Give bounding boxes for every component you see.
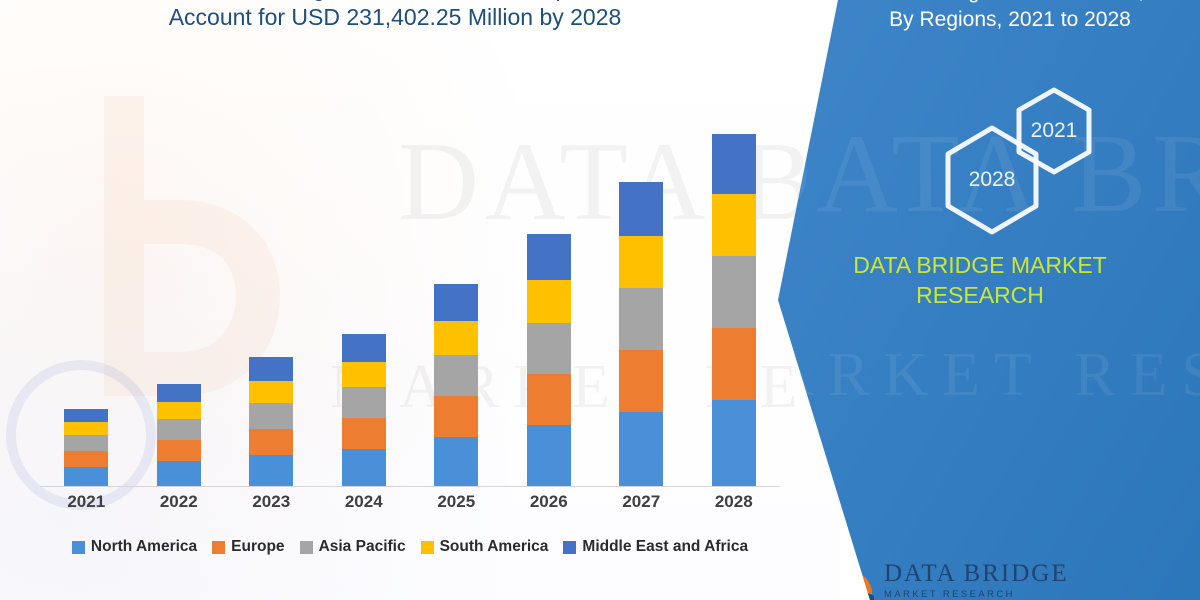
stacked-bar: [527, 234, 571, 486]
hexagon-2021-label: 2021: [1031, 119, 1078, 143]
bar-segment: [712, 256, 756, 328]
bar-segment: [342, 334, 386, 362]
bar-group: [40, 70, 780, 486]
x-axis-label: 2027: [595, 492, 687, 512]
x-axis-labels: 20212022202320242025202620272028: [40, 492, 780, 512]
bar-segment: [712, 194, 756, 256]
bar-column: [503, 70, 595, 486]
brand-line-2: RESEARCH: [800, 280, 1160, 310]
bar-segment: [157, 419, 201, 440]
stacked-bar: [619, 182, 663, 486]
bar-segment: [619, 182, 663, 236]
bar-segment: [64, 409, 108, 422]
chart-legend: North AmericaEuropeAsia PacificSouth Ame…: [40, 538, 780, 556]
legend-item[interactable]: Asia Pacific: [300, 538, 406, 556]
logo-text: DATA BRIDGE MARKET RESEARCH: [884, 556, 1069, 600]
legend-item[interactable]: Middle East and Africa: [563, 538, 748, 556]
bar-segment: [712, 328, 756, 400]
bar-segment: [619, 412, 663, 486]
bar-segment: [249, 429, 293, 455]
legend-swatch: [421, 541, 434, 554]
bar-segment: [434, 321, 478, 355]
bar-column: [410, 70, 502, 486]
bar-segment: [434, 355, 478, 396]
bar-segment: [342, 362, 386, 387]
legend-label: Europe: [231, 538, 284, 556]
legend-label: Middle East and Africa: [582, 538, 748, 556]
x-axis-label: 2024: [318, 492, 410, 512]
legend-swatch: [300, 541, 313, 554]
legend-swatch: [563, 541, 576, 554]
hexagon-2028-label: 2028: [969, 168, 1016, 192]
stacked-bar: [342, 334, 386, 486]
bar-segment: [249, 381, 293, 403]
bar-column: [595, 70, 687, 486]
hexagon-group: 2028 2021: [920, 80, 1180, 240]
x-axis-label: 2023: [225, 492, 317, 512]
bar-segment: [157, 402, 201, 419]
legend-label: South America: [440, 538, 549, 556]
x-axis-label: 2026: [503, 492, 595, 512]
bar-segment: [157, 440, 201, 461]
stacked-bar: [157, 384, 201, 486]
bar-segment: [157, 461, 201, 486]
stacked-bar: [249, 357, 293, 486]
bar-segment: [64, 435, 108, 451]
x-axis-label: 2022: [133, 492, 225, 512]
stacked-bar-chart: [40, 70, 780, 490]
panel-title-line-2: By Regions, 2021 to 2028: [830, 6, 1190, 34]
page-title: Global Advertising Software Market is Ex…: [0, 0, 790, 32]
stacked-bar: [64, 409, 108, 486]
stacked-bar: [712, 134, 756, 486]
bar-segment: [157, 384, 201, 402]
x-axis-label: 2021: [40, 492, 132, 512]
x-axis-label: 2028: [688, 492, 780, 512]
x-axis-line: [40, 486, 780, 487]
bar-segment: [527, 323, 571, 374]
brand-line-1: DATA BRIDGE MARKET: [800, 250, 1160, 280]
bar-segment: [342, 418, 386, 449]
bar-segment: [712, 134, 756, 194]
bar-segment: [527, 425, 571, 486]
bar-segment: [64, 422, 108, 435]
logo-subtitle: MARKET RESEARCH: [884, 590, 1069, 600]
x-axis-label: 2025: [410, 492, 502, 512]
stacked-bar: [434, 284, 478, 486]
bar-column: [318, 70, 410, 486]
bar-segment: [434, 284, 478, 321]
bar-column: [225, 70, 317, 486]
bar-segment: [712, 400, 756, 486]
legend-label: Asia Pacific: [319, 538, 406, 556]
bar-segment: [249, 403, 293, 429]
bar-column: [133, 70, 225, 486]
legend-swatch: [212, 541, 225, 554]
bar-segment: [342, 449, 386, 486]
company-logo: DATA BRIDGE MARKET RESEARCH: [820, 556, 1069, 600]
legend-item[interactable]: North America: [72, 538, 197, 556]
bar-segment: [619, 288, 663, 350]
bar-segment: [527, 234, 571, 280]
brand-name: DATA BRIDGE MARKET RESEARCH: [800, 250, 1160, 310]
panel-title: Advertising Software Market, By Regions,…: [830, 0, 1190, 34]
bar-segment: [619, 350, 663, 412]
bar-column: [40, 70, 132, 486]
bar-segment: [527, 280, 571, 323]
bar-segment: [434, 396, 478, 437]
legend-item[interactable]: Europe: [212, 538, 284, 556]
bar-segment: [64, 467, 108, 486]
bar-segment: [249, 357, 293, 381]
legend-swatch: [72, 541, 85, 554]
legend-item[interactable]: South America: [421, 538, 549, 556]
legend-label: North America: [91, 538, 197, 556]
bar-segment: [619, 236, 663, 288]
bar-segment: [527, 374, 571, 425]
bar-segment: [249, 455, 293, 486]
hexagon-2021: 2021: [1014, 86, 1094, 176]
bar-column: [688, 70, 780, 486]
plot-area: [40, 70, 780, 487]
bar-segment: [434, 437, 478, 486]
infographic-canvas: DATA BRIDGE MARKET RESEARCH Global Adver…: [0, 0, 1200, 600]
logo-title: DATA BRIDGE: [884, 561, 1069, 586]
headline-line-2: Account for USD 231,402.25 Million by 20…: [0, 3, 790, 32]
bar-segment: [342, 387, 386, 418]
bar-segment: [64, 451, 108, 467]
